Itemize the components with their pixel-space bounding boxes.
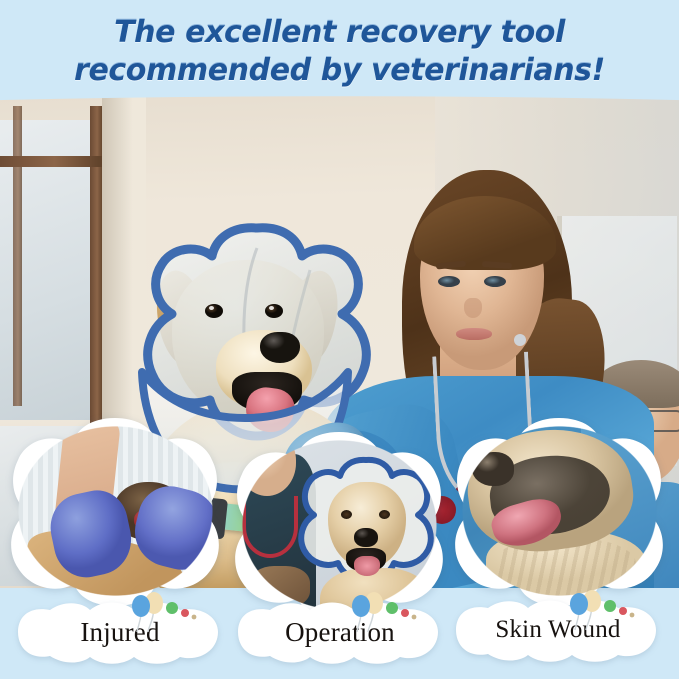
- window-frame: [13, 106, 22, 406]
- balloon-decoration: [348, 592, 420, 634]
- inset-photo-group: [0, 404, 679, 614]
- headline-line-2: recommended by veterinarians!: [0, 52, 679, 90]
- product-banner: The excellent recovery tool recommended …: [0, 0, 679, 679]
- window-frame: [0, 156, 104, 167]
- label-pill-injured: Injured: [18, 602, 222, 664]
- stethoscope-icon: [242, 496, 298, 558]
- balloon-decoration: [128, 592, 200, 634]
- label-pill-operation: Operation: [238, 602, 442, 664]
- label-row: Injured Operation: [0, 596, 679, 668]
- headline-line-1: The excellent recovery tool: [0, 14, 679, 52]
- page-title: The excellent recovery tool recommended …: [0, 14, 679, 90]
- labrador-with-collar: [296, 456, 436, 610]
- inset-image: [242, 440, 437, 610]
- balloon-decoration: [566, 590, 638, 632]
- inset-image: [462, 426, 657, 596]
- inset-photo-skin-wound: [452, 416, 667, 606]
- inset-photo-injured: [8, 416, 223, 606]
- inset-image: [18, 426, 213, 596]
- label-pill-skin-wound: Skin Wound: [456, 600, 660, 662]
